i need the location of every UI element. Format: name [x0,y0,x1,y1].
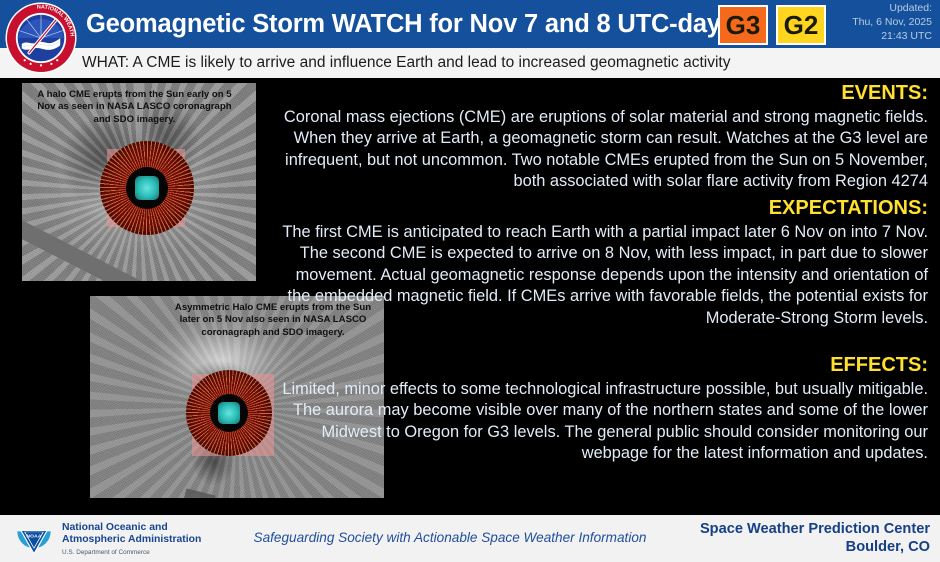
header-bar: Geomagnetic Storm WATCH for Nov 7 and 8 … [0,0,940,48]
noaa-line-1: National Oceanic and [62,522,201,534]
asymmetric-cme-caption: Asymmetric Halo CME erupts from the Sun … [168,302,378,339]
section-effects-body: Limited, minor effects to some technolog… [270,379,928,465]
updated-date: Thu, 6 Nov, 2025 [832,16,932,30]
updated-block: Updated: Thu, 6 Nov, 2025 21:43 UTC [832,2,932,44]
section-effects-heading: EFFECTS: [270,354,928,378]
section-events-heading: EVENTS: [270,82,928,106]
section-effects: EFFECTS: Limited, minor effects to some … [270,354,928,465]
section-events-body: Coronal mass ejections (CME) are eruptio… [270,107,928,193]
nws-seal-icon: NATIONAL WEATHER SERVICE [4,1,78,75]
section-expectations-heading: EXPECTATIONS: [270,197,928,221]
svg-text:NOAA: NOAA [26,533,42,539]
noaa-department: U.S. Department of Commerce [62,549,201,557]
what-statement: WHAT: A CME is likely to arrive and infl… [82,54,730,72]
scale-badge-g3[interactable]: G3 [718,5,768,45]
section-events: EVENTS: Coronal mass ejections (CME) are… [270,82,928,193]
center-location: Boulder, CO [650,539,930,557]
updated-time: 21:43 UTC [832,30,932,44]
footer-tagline: Safeguarding Society with Actionable Spa… [230,530,670,545]
noaa-wordmark: National Oceanic and Atmospheric Adminis… [62,522,201,556]
what-band: WHAT: A CME is likely to arrive and infl… [0,48,940,78]
scale-badge-g3-label: G3 [726,12,761,38]
center-name: Space Weather Prediction Center [650,521,930,539]
updated-label: Updated: [832,2,932,16]
sdo-euv-core [135,176,159,200]
halo-cme-caption: A halo CME erupts from the Sun early on … [32,89,237,126]
page-title: Geomagnetic Storm WATCH for Nov 7 and 8 … [86,0,735,48]
footer-center-identity: Space Weather Prediction Center Boulder,… [650,521,930,557]
halo-cme-image: A halo CME erupts from the Sun early on … [22,83,256,281]
main-content: A halo CME erupts from the Sun early on … [0,78,940,515]
advisory-text-column: EVENTS: Coronal mass ejections (CME) are… [270,78,928,515]
scale-badge-g2[interactable]: G2 [776,5,826,45]
footer-bar: NOAA National Oceanic and Atmospheric Ad… [0,515,940,562]
sdo-euv-core [218,402,240,424]
noaa-logo-icon: NOAA [14,520,54,558]
noaa-line-2: Atmospheric Administration [62,534,201,546]
scale-badge-g2-label: G2 [784,12,819,38]
